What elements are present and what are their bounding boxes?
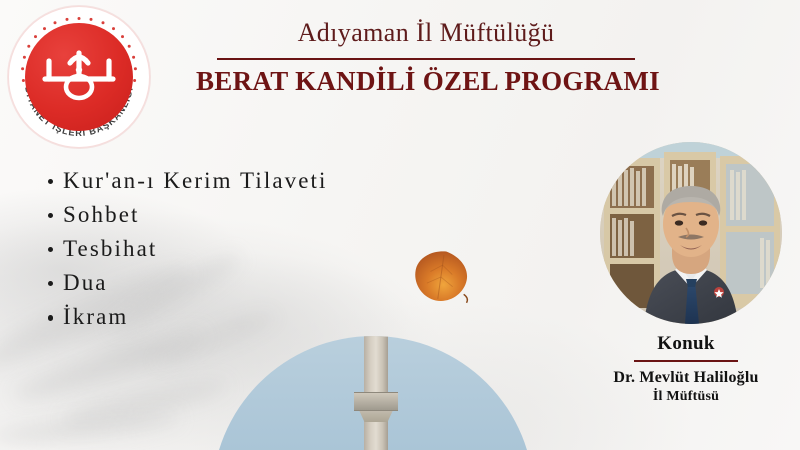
minaret-balcony <box>354 392 398 411</box>
list-item: Dua <box>46 266 328 300</box>
list-item: Kur'an-ı Kerim Tilaveti <box>46 164 328 198</box>
poster-canvas: DİYANET İŞLERİ BAŞKANLIĞI Adıyaman İl Mü… <box>0 0 800 450</box>
guest-name: Dr. Mevlüt Haliloğlu <box>572 368 800 388</box>
autumn-leaf-icon <box>406 241 476 311</box>
list-item: Sohbet <box>46 198 328 232</box>
guest-label: Konuk <box>572 334 800 355</box>
portrait-illustration <box>600 142 782 324</box>
list-item: İkram <box>46 300 328 334</box>
guest-divider <box>634 360 738 363</box>
header-block: Adıyaman İl Müftülüğü BERAT KANDİLİ ÖZEL… <box>196 18 656 97</box>
minaret-photo <box>212 336 534 450</box>
guest-role: İl Müftüsü <box>572 388 800 406</box>
agenda-list: Kur'an-ı Kerim Tilaveti Sohbet Tesbihat … <box>46 164 328 334</box>
list-item: Tesbihat <box>46 232 328 266</box>
guest-portrait-photo <box>600 142 782 324</box>
allah-calligraphy-icon <box>25 23 133 131</box>
program-title: BERAT KANDİLİ ÖZEL PROGRAMI <box>196 67 656 97</box>
diyanet-logo: DİYANET İŞLERİ BAŞKANLIĞI <box>8 6 150 148</box>
header-divider <box>217 58 635 60</box>
organization-name: Adıyaman İl Müftülüğü <box>196 18 656 49</box>
guest-block: Konuk Dr. Mevlüt Haliloğlu İl Müftüsü <box>572 334 800 406</box>
